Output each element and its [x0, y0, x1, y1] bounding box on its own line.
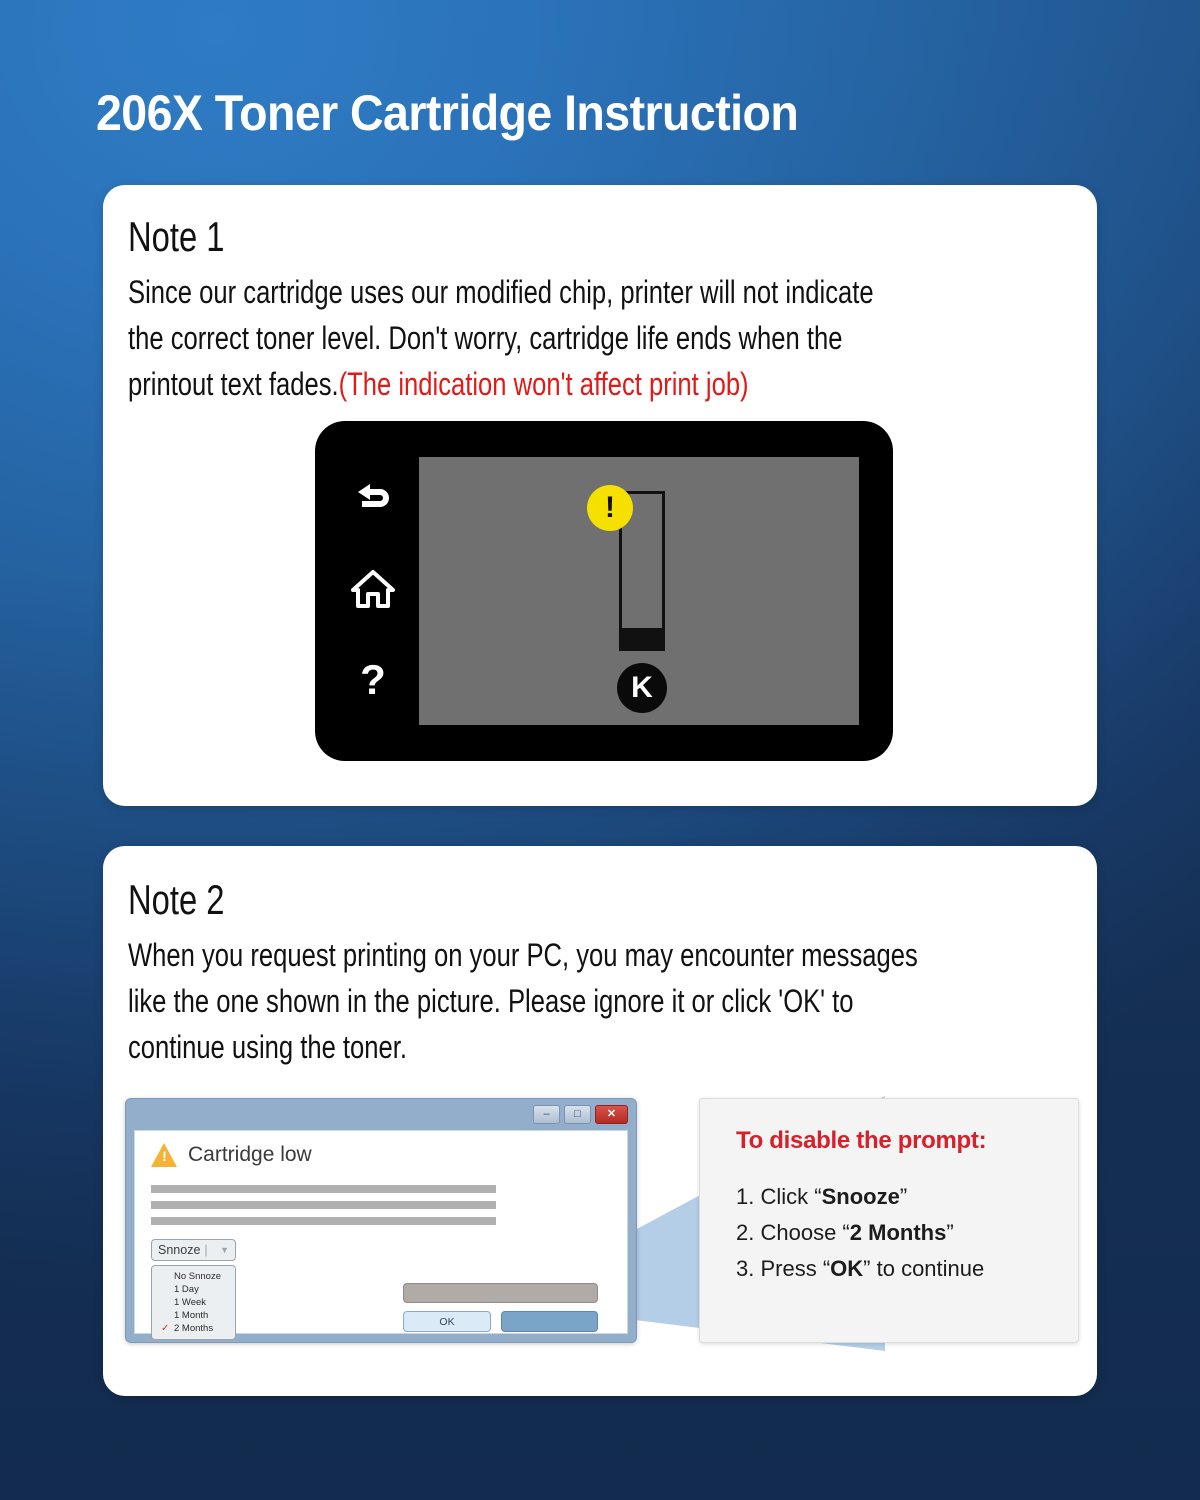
note1-card: Note 1 Since our cartridge uses our modi… [103, 185, 1097, 806]
callout-step-text-before: Choose “ [760, 1220, 849, 1245]
callout-step-text-before: Click “ [760, 1184, 821, 1209]
note2-heading: Note 2 [128, 876, 225, 924]
callout-step-number: 3. [736, 1256, 754, 1281]
home-icon[interactable] [350, 568, 396, 615]
toner-color-label: K [631, 671, 653, 705]
warning-badge-glyph: ! [605, 493, 615, 523]
dialog-title: Cartridge low [188, 1143, 312, 1167]
callout-step-strong: 2 Months [850, 1220, 947, 1245]
note1-body-line3-accent: (The indication won't affect print job) [339, 366, 749, 402]
placeholder-button-blue[interactable] [501, 1311, 598, 1332]
note2-card: Note 2 When you request printing on your… [103, 846, 1097, 1396]
note1-body-line1: Since our cartridge uses our modified ch… [128, 274, 874, 310]
placeholder-text-bar [151, 1201, 496, 1209]
callout-step-strong: OK [830, 1256, 863, 1281]
warning-triangle-glyph: ! [151, 1149, 178, 1163]
note1-heading: Note 1 [128, 213, 225, 261]
note2-body: When you request printing on your PC, yo… [128, 932, 1072, 1070]
callout-step-text-after: ” to continue [863, 1256, 984, 1281]
note2-body-line3: continue using the toner. [128, 1029, 407, 1065]
dialog-titlebar: – □ ✕ [126, 1099, 636, 1129]
snooze-dropdown[interactable]: Snnoze | ▼ [151, 1239, 236, 1261]
printer-panel-buttons: ? [333, 479, 413, 709]
minimize-button[interactable]: – [533, 1105, 560, 1124]
snooze-option[interactable]: 1 Week [152, 1296, 235, 1309]
note1-body-line3: printout text fades. [128, 366, 339, 402]
toner-level-fill [622, 628, 662, 648]
note1-body-line2: the correct toner level. Don't worry, ca… [128, 320, 842, 356]
warning-badge-icon: ! [587, 485, 633, 531]
callout-step: 1. Click “Snooze” [736, 1179, 1078, 1215]
snooze-option-label: No Snnoze [174, 1271, 221, 1282]
note1-body: Since our cartridge uses our modified ch… [128, 269, 1072, 407]
close-button[interactable]: ✕ [595, 1105, 628, 1124]
placeholder-text-bar [151, 1185, 496, 1193]
printer-control-panel-illustration: ? ! K [315, 421, 893, 761]
placeholder-text-bar [151, 1217, 496, 1225]
snooze-option[interactable]: 1 Day [152, 1283, 235, 1296]
printer-screen: ! K [419, 457, 859, 725]
callout-step: 2. Choose “2 Months” [736, 1215, 1078, 1251]
snooze-option[interactable]: 1 Month [152, 1309, 235, 1322]
callout-step-text-after: ” [946, 1220, 953, 1245]
dialog-body: ! Cartridge low Snnoze | ▼ No Snnoze [134, 1130, 628, 1334]
callout-step-strong: Snooze [822, 1184, 900, 1209]
ok-button[interactable]: OK [403, 1311, 491, 1332]
callout-title: To disable the prompt: [736, 1127, 1078, 1155]
toner-color-badge: K [617, 663, 667, 713]
snooze-option-label: 1 Day [174, 1284, 199, 1295]
callout-step-number: 1. [736, 1184, 754, 1209]
callout-step: 3. Press “OK” to continue [736, 1251, 1078, 1287]
placeholder-button-grey[interactable] [403, 1283, 598, 1303]
snooze-dropdown-separator: | [204, 1243, 207, 1257]
snooze-option-label: 1 Week [174, 1297, 206, 1308]
snooze-dropdown-list[interactable]: No Snnoze 1 Day 1 Week 1 Month [151, 1265, 236, 1340]
snooze-option-label: 1 Month [174, 1310, 208, 1321]
maximize-button[interactable]: □ [564, 1105, 591, 1124]
page-title: 206X Toner Cartridge Instruction [96, 84, 1035, 142]
snooze-dropdown-value: Snnoze [158, 1243, 200, 1257]
cartridge-low-dialog: – □ ✕ ! Cartridge low Snnoze | [125, 1098, 637, 1343]
back-arrow-icon[interactable] [350, 479, 396, 524]
snooze-option-label: 2 Months [174, 1323, 213, 1334]
callout-step-text-after: ” [900, 1184, 907, 1209]
snooze-option-selected[interactable]: ✓ 2 Months [152, 1322, 235, 1335]
toner-level-graphic: ! K [585, 485, 695, 715]
callout-step-text-before: Press “ [760, 1256, 830, 1281]
svg-text:?: ? [360, 658, 386, 703]
chevron-down-icon: ▼ [220, 1245, 229, 1255]
callout-step-number: 2. [736, 1220, 754, 1245]
snooze-option[interactable]: No Snnoze [152, 1270, 235, 1283]
note2-body-line1: When you request printing on your PC, yo… [128, 937, 918, 973]
disable-prompt-callout: To disable the prompt: 1. Click “Snooze”… [699, 1098, 1079, 1343]
check-icon: ✓ [161, 1322, 169, 1335]
note2-body-line2: like the one shown in the picture. Pleas… [128, 983, 854, 1019]
question-mark-icon[interactable]: ? [353, 658, 393, 709]
warning-triangle-icon: ! [151, 1143, 178, 1167]
dialog-header: ! Cartridge low [151, 1143, 312, 1167]
note2-figure-area: – □ ✕ ! Cartridge low Snnoze | [125, 1096, 1080, 1351]
